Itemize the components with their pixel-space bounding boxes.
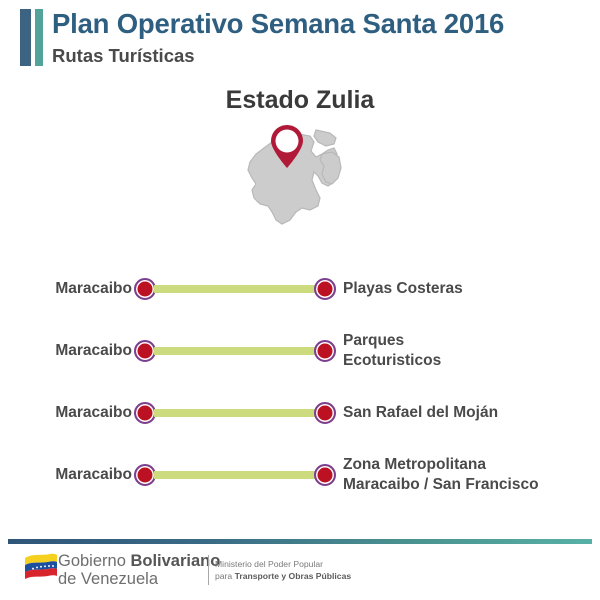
state-map-graphic	[238, 124, 373, 242]
route-origin-node	[134, 464, 156, 486]
footer-separator	[208, 555, 209, 585]
route-row: Maracaibo San Rafael del Moján	[0, 382, 600, 444]
route-destination-label: Playas Costeras	[343, 279, 463, 299]
route-destination-node	[314, 402, 336, 424]
route-origin-label: Maracaibo	[55, 280, 132, 298]
route-row: Maracaibo Playas Costeras	[0, 258, 600, 320]
route-origin-node	[134, 278, 156, 300]
gov-line1-bold: Bolivariano	[130, 552, 220, 570]
ministry-line1: Ministerio del Poder Popular	[215, 558, 351, 570]
route-destination-label: Parques Ecoturisticos	[343, 331, 441, 371]
route-destination-node	[314, 278, 336, 300]
routes-list: Maracaibo Playas Costeras Maracaibo Parq…	[0, 258, 600, 506]
route-connector	[154, 409, 316, 417]
state-title: Estado Zulia	[0, 86, 600, 115]
accent-bar-teal-icon	[35, 9, 43, 66]
footer-divider	[8, 539, 592, 544]
route-origin-node	[134, 340, 156, 362]
route-destination-label: Zona Metropolitana Maracaibo / San Franc…	[343, 455, 539, 495]
route-connector	[154, 347, 316, 355]
route-origin-label: Maracaibo	[55, 466, 132, 484]
ministry-line2-bold: Transporte y Obras Públicas	[235, 571, 352, 581]
route-origin-label: Maracaibo	[55, 404, 132, 422]
route-origin-node	[134, 402, 156, 424]
route-destination-label: San Rafael del Moján	[343, 403, 498, 423]
page-subtitle: Rutas Turísticas	[52, 45, 195, 67]
ministry-line2-regular: para	[215, 571, 235, 581]
route-row: Maracaibo Zona Metropolitana Maracaibo /…	[0, 444, 600, 506]
page-header: Plan Operativo Semana Santa 2016 Rutas T…	[0, 0, 600, 78]
government-logo-text: Gobierno Bolivariano de Venezuela	[58, 552, 220, 589]
route-origin-label: Maracaibo	[55, 342, 132, 360]
gov-line1-regular: Gobierno	[58, 552, 130, 570]
ministry-text: Ministerio del Poder Popular para Transp…	[215, 558, 351, 583]
page-footer: Gobierno Bolivariano de Venezuela Minist…	[0, 549, 600, 600]
header-accent-bars	[20, 9, 43, 66]
route-connector	[154, 471, 316, 479]
route-destination-node	[314, 464, 336, 486]
route-destination-node	[314, 340, 336, 362]
route-row: Maracaibo Parques Ecoturisticos	[0, 320, 600, 382]
accent-bar-dark-icon	[20, 9, 31, 66]
route-connector	[154, 285, 316, 293]
gov-line2: de Venezuela	[58, 570, 220, 588]
venezuela-flag-icon	[24, 553, 58, 588]
page-title: Plan Operativo Semana Santa 2016	[52, 8, 504, 40]
